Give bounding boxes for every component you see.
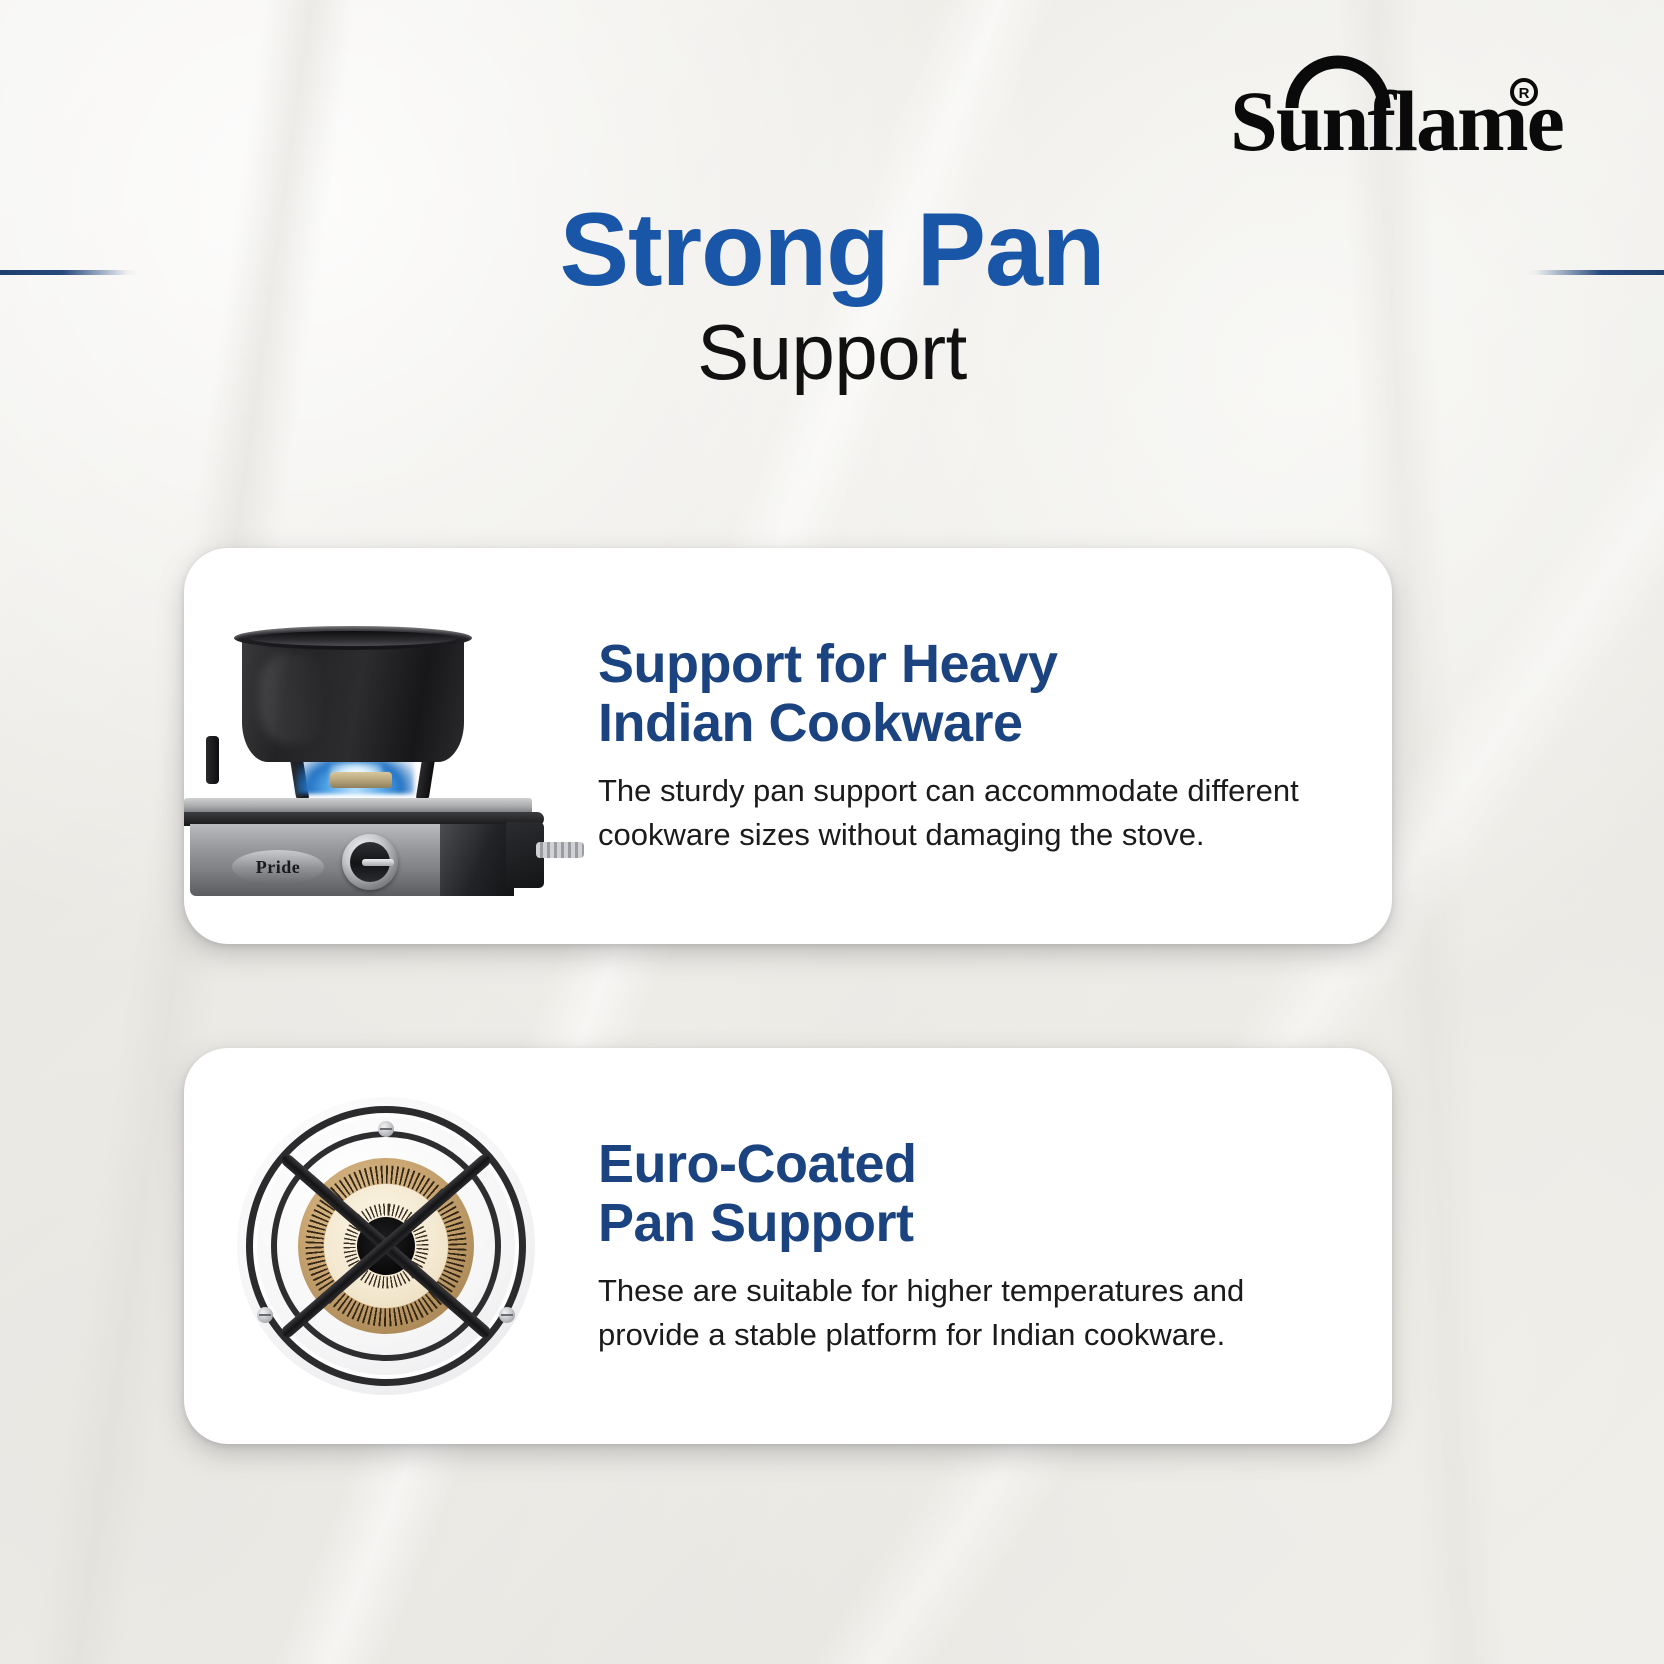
burner-head: [330, 772, 392, 788]
screw-left: [257, 1307, 273, 1323]
screw-right: [499, 1307, 515, 1323]
stove-panel-accent: [440, 824, 514, 896]
svg-text:R: R: [1519, 85, 1530, 102]
pan-support-arm-left: [206, 736, 219, 784]
feature-card-euro-coated-pan-support[interactable]: Euro-Coated Pan Support These are suitab…: [184, 1048, 1392, 1444]
sunflame-logo: Sunflame R: [1172, 46, 1572, 166]
burner-top-view-image: [184, 1048, 588, 1444]
screw-top: [378, 1121, 394, 1137]
card-body: Support for Heavy Indian Cookware The st…: [588, 635, 1392, 857]
knob-inner: [350, 842, 390, 882]
burner-illustration: [233, 1093, 539, 1399]
page-title: Strong Pan: [0, 196, 1664, 305]
pot-rim-inner: [250, 631, 456, 646]
card-title: Euro-Coated Pan Support: [598, 1135, 1334, 1253]
page-title-block: Strong Pan Support: [0, 196, 1664, 397]
card-body: Euro-Coated Pan Support These are suitab…: [588, 1135, 1392, 1357]
card-description: These are suitable for higher temperatur…: [598, 1269, 1318, 1357]
infographic-page: Sunflame R Strong Pan Support: [0, 0, 1664, 1664]
gas-inlet-nozzle: [536, 842, 584, 858]
card-title: Support for Heavy Indian Cookware: [598, 635, 1334, 753]
stove-with-pot-image: Pride: [184, 548, 588, 944]
gas-stove-illustration: Pride: [184, 626, 588, 926]
stove-control-knob: [342, 834, 398, 890]
pot-highlight: [260, 652, 326, 744]
knob-indicator: [362, 859, 394, 866]
card-description: The sturdy pan support can accommodate d…: [598, 769, 1318, 857]
sunflame-logo-icon: Sunflame R: [1172, 46, 1572, 166]
feature-card-support-heavy-cookware[interactable]: Pride Support for Heavy Indian Cookware …: [184, 548, 1392, 944]
pride-badge: Pride: [232, 850, 324, 884]
page-subtitle: Support: [0, 309, 1664, 396]
